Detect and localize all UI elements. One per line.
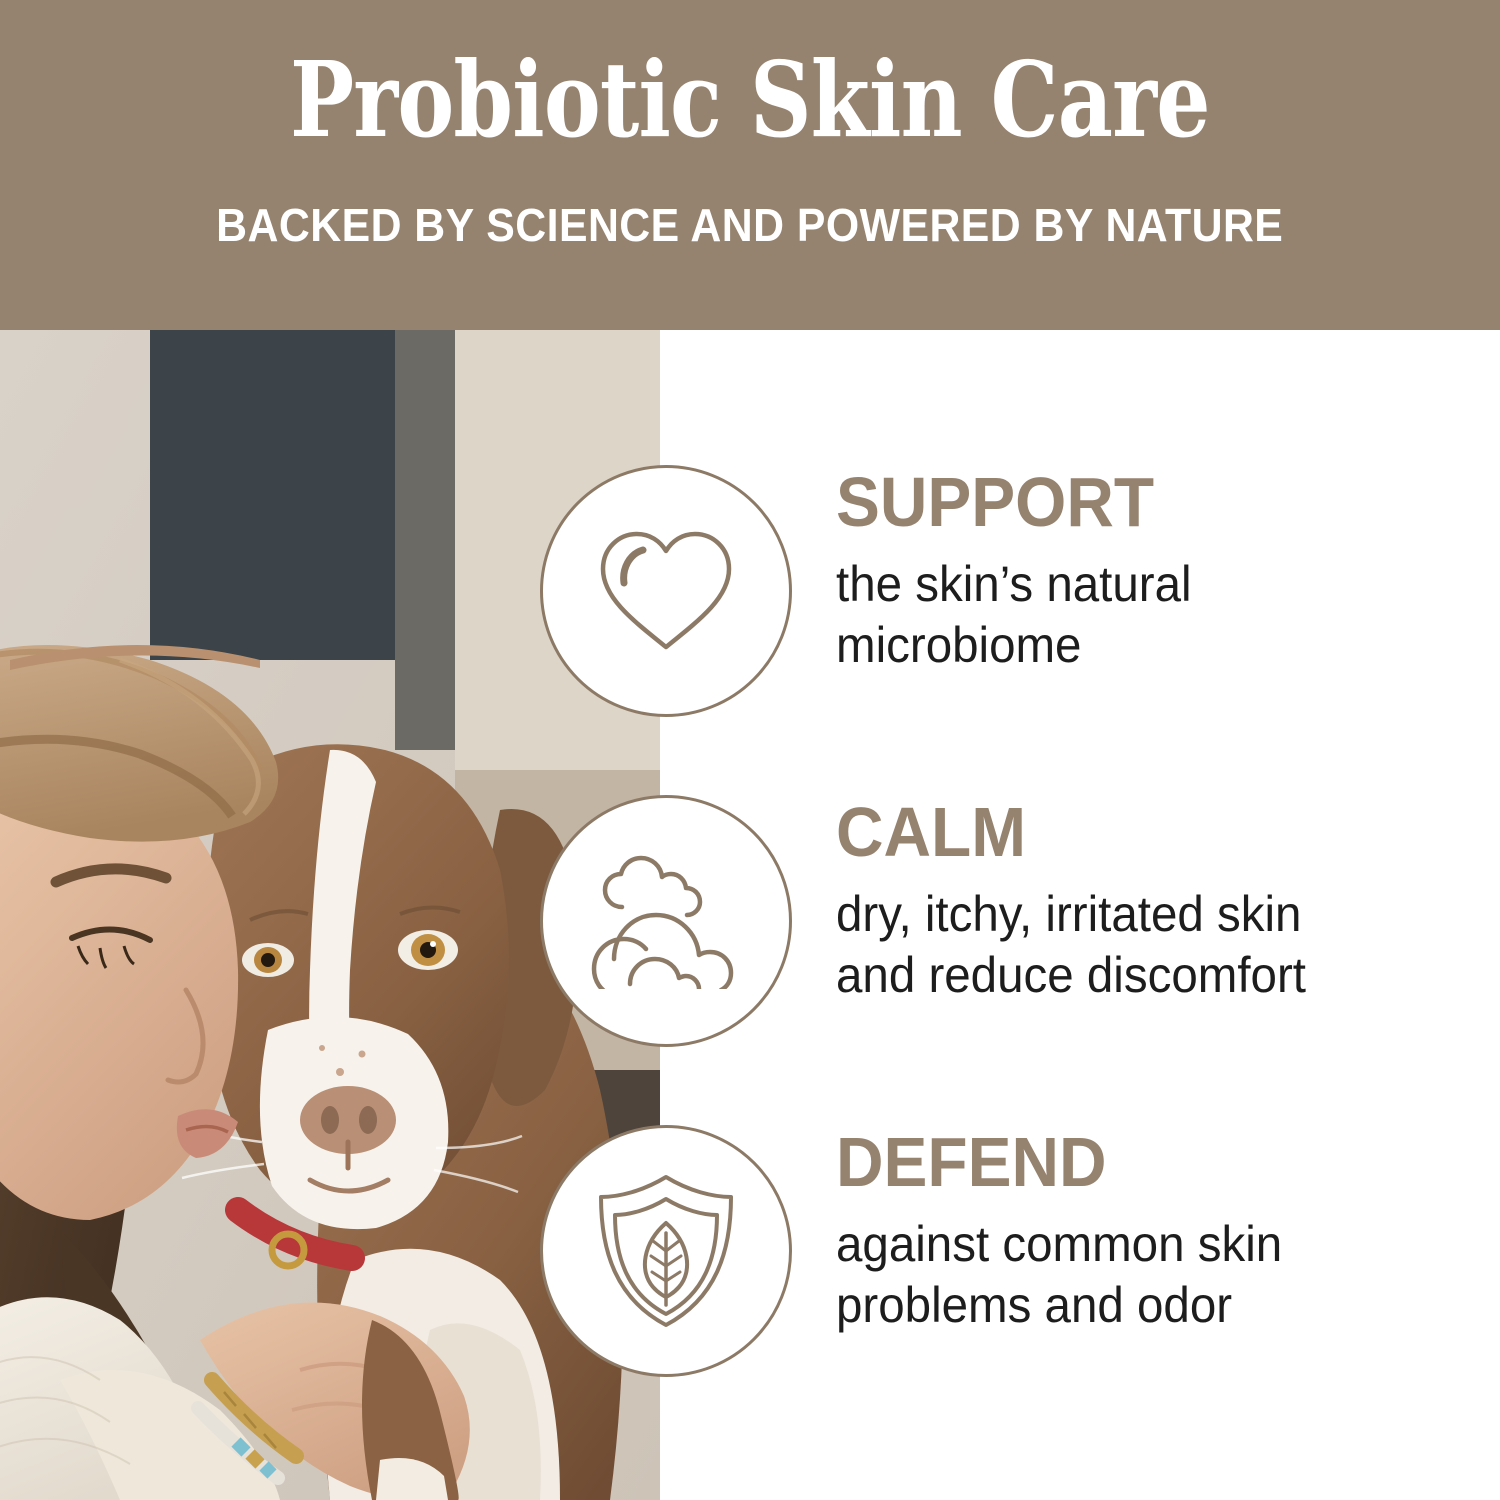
benefit-text-support: SUPPORT the skin’s natural microbiome xyxy=(836,469,1476,676)
benefit-description: dry, itchy, irritated skin and reduce di… xyxy=(836,884,1444,1006)
shield-leaf-icon xyxy=(593,1171,739,1331)
benefit-text-calm: CALM dry, itchy, irritated skin and redu… xyxy=(836,799,1476,1006)
benefit-description-line: and reduce discomfort xyxy=(836,945,1444,1006)
benefit-description-line: the skin’s natural xyxy=(836,554,1444,615)
benefit-row-calm: CALM dry, itchy, irritated skin and redu… xyxy=(0,795,1500,1045)
page-title: Probiotic Skin Care xyxy=(290,48,1210,152)
benefit-title: SUPPORT xyxy=(836,469,1438,536)
clouds-icon xyxy=(586,853,746,989)
benefit-description-line: dry, itchy, irritated skin xyxy=(836,884,1444,945)
heart-icon xyxy=(591,521,741,661)
benefit-description-line: problems and odor xyxy=(836,1275,1444,1336)
benefit-description: the skin’s natural microbiome xyxy=(836,554,1444,676)
header-banner: Probiotic Skin Care BACKED BY SCIENCE AN… xyxy=(0,0,1500,330)
page-subtitle: BACKED BY SCIENCE AND POWERED BY NATURE xyxy=(216,202,1283,248)
benefit-row-support: SUPPORT the skin’s natural microbiome xyxy=(0,465,1500,715)
clouds-icon-circle xyxy=(540,795,792,1047)
benefit-title: CALM xyxy=(836,799,1438,866)
heart-icon-circle xyxy=(540,465,792,717)
benefit-title: DEFEND xyxy=(836,1129,1438,1196)
benefit-description-line: against common skin xyxy=(836,1214,1444,1275)
benefit-description-line: microbiome xyxy=(836,615,1444,676)
shield-leaf-icon-circle xyxy=(540,1125,792,1377)
product-infographic: Probiotic Skin Care BACKED BY SCIENCE AN… xyxy=(0,0,1500,1500)
benefit-text-defend: DEFEND against common skin problems and … xyxy=(836,1129,1476,1336)
benefit-description: against common skin problems and odor xyxy=(836,1214,1444,1336)
benefit-row-defend: DEFEND against common skin problems and … xyxy=(0,1125,1500,1375)
